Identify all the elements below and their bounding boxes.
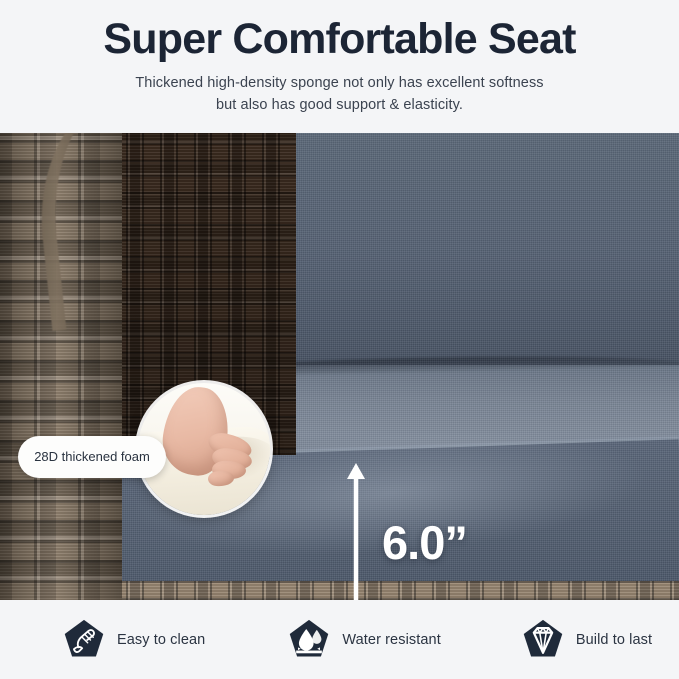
subtitle: Thickened high-density sponge not only h… bbox=[0, 72, 679, 116]
subtitle-line-1: Thickened high-density sponge not only h… bbox=[135, 75, 543, 91]
water-drop-icon bbox=[287, 618, 331, 662]
feature-label: Build to last bbox=[576, 632, 652, 648]
foam-callout-pill: 28D thickened foam bbox=[18, 436, 166, 478]
subtitle-line-2: but also has good support & elasticity. bbox=[0, 94, 679, 116]
product-photo: 28D thickened foam 6.0” bbox=[0, 133, 679, 600]
page-title: Super Comfortable Seat bbox=[0, 14, 679, 64]
header-section: Super Comfortable Seat Thickened high-de… bbox=[0, 0, 679, 133]
product-feature-image: Super Comfortable Seat Thickened high-de… bbox=[0, 0, 679, 679]
feature-label: Water resistant bbox=[342, 632, 440, 648]
weave-texture bbox=[0, 133, 122, 600]
feature-bar: Easy to clean Water resistant Build to bbox=[0, 600, 679, 679]
feature-item-build-to-last: Build to last bbox=[521, 618, 652, 662]
wicker-armrest bbox=[0, 133, 122, 600]
feature-label: Easy to clean bbox=[117, 632, 205, 648]
cleaning-hand-icon bbox=[62, 618, 106, 662]
diamond-icon bbox=[521, 618, 565, 662]
dimension-label: 6.0” bbox=[382, 517, 467, 569]
feature-item-easy-to-clean: Easy to clean bbox=[62, 618, 205, 662]
feature-item-water-resistant: Water resistant bbox=[287, 618, 440, 662]
armrest-curve bbox=[28, 133, 122, 331]
dimension-arrow-icon bbox=[344, 463, 368, 600]
